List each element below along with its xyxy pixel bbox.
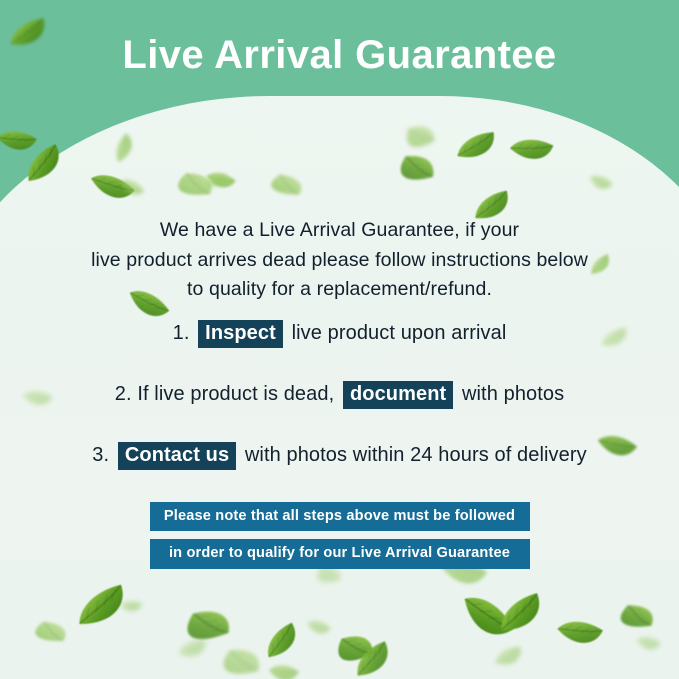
poster-content: Live Arrival Guarantee We have a Live Ar…	[0, 0, 679, 679]
step-highlight-3: Contact us	[118, 442, 236, 470]
step-text-3: with photos within 24 hours of delivery	[245, 444, 587, 466]
step-number-2: 2.	[115, 383, 132, 405]
step-number-1: 1.	[173, 322, 190, 344]
intro-paragraph: We have a Live Arrival Guarantee, if you…	[60, 216, 620, 305]
live-arrival-guarantee-poster: Live Arrival Guarantee We have a Live Ar…	[0, 0, 679, 679]
step-item-1: 1. Inspect live product upon arrival	[0, 320, 679, 348]
notice-block: Please note that all steps above must be…	[150, 502, 530, 569]
notice-line-2: in order to qualify for our Live Arrival…	[150, 539, 530, 568]
page-title: Live Arrival Guarantee	[0, 33, 679, 77]
step-highlight-2: document	[343, 381, 453, 409]
intro-line-3: to quality for a replacement/refund.	[60, 275, 620, 305]
steps-list: 1. Inspect live product upon arrival 2. …	[0, 320, 679, 503]
step-number-3: 3.	[92, 444, 109, 466]
intro-line-2: live product arrives dead please follow …	[60, 246, 620, 276]
step-highlight-1: Inspect	[198, 320, 283, 348]
step-item-2: 2. If live product is dead, document wit…	[0, 381, 679, 409]
intro-line-1: We have a Live Arrival Guarantee, if you…	[60, 216, 620, 246]
step-text-1: live product upon arrival	[292, 322, 507, 344]
step-text-2-before: If live product is dead,	[137, 383, 334, 405]
notice-line-1: Please note that all steps above must be…	[150, 502, 530, 531]
step-item-3: 3. Contact us with photos within 24 hour…	[0, 442, 679, 470]
step-text-2-after: with photos	[462, 383, 564, 405]
